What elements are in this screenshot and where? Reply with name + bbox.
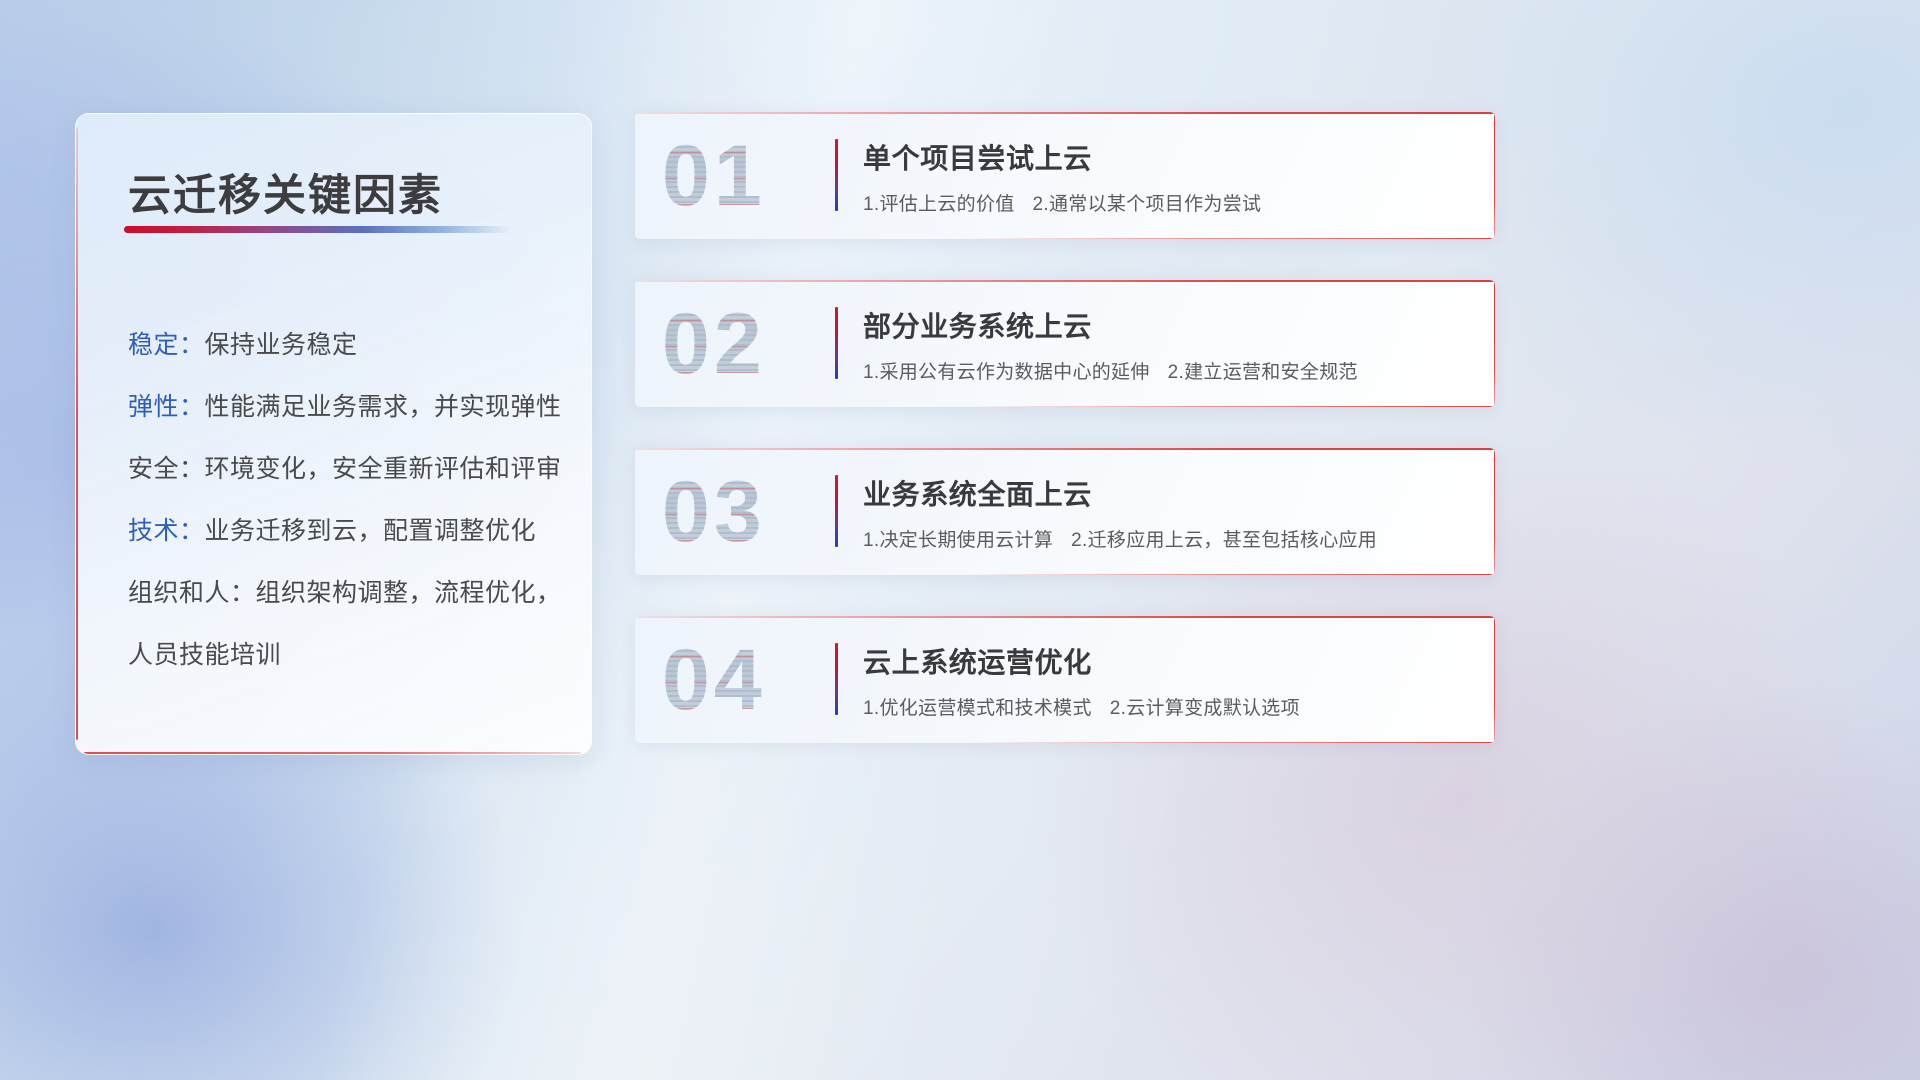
stage-title: 部分业务系统上云	[863, 305, 1092, 345]
key-factor-label: 安全：	[128, 455, 205, 483]
key-factor-text: 人员技能培训	[128, 641, 281, 669]
page-title: 云迁移关键因素	[128, 161, 443, 223]
stage-number: 01	[662, 126, 822, 226]
stage-number: 02	[662, 294, 822, 394]
stage-title: 单个项目尝试上云	[863, 137, 1092, 177]
key-factor-label: 技术：	[128, 517, 205, 545]
card-top-accent-line	[635, 280, 1495, 282]
key-factor-text: 环境变化，安全重新评估和评审	[205, 455, 562, 483]
key-factor-text: 性能满足业务需求，并实现弹性	[205, 393, 562, 421]
key-factor-row: 人员技能培训	[128, 624, 567, 686]
key-factor-row: 技术：业务迁移到云，配置调整优化	[128, 500, 567, 562]
key-factors-list: 稳定：保持业务稳定弹性：性能满足业务需求，并实现弹性安全：环境变化，安全重新评估…	[128, 314, 567, 686]
card-right-accent-line	[1494, 112, 1496, 239]
stage-card[interactable]: 0404云上系统运营优化1.优化运营模式和技术模式2.云计算变成默认选项	[635, 616, 1495, 743]
card-top-accent-line	[635, 448, 1495, 450]
stage-description-item-1: 1.决定长期使用云计算	[863, 530, 1053, 551]
key-factor-text: 业务迁移到云，配置调整优化	[205, 517, 537, 545]
key-factors-panel: 云迁移关键因素 稳定：保持业务稳定弹性：性能满足业务需求，并实现弹性安全：环境变…	[75, 113, 592, 755]
card-bottom-accent-line	[962, 406, 1495, 408]
stage-description-item-1: 1.评估上云的价值	[863, 194, 1015, 215]
stage-description-item-1: 1.优化运营模式和技术模式	[863, 698, 1092, 719]
stage-description: 1.优化运营模式和技术模式2.云计算变成默认选项	[863, 693, 1300, 720]
panel-bottom-accent-line	[84, 752, 581, 754]
card-divider-gradient-bar	[835, 475, 838, 547]
card-bottom-accent-line	[962, 574, 1495, 576]
key-factor-text: 保持业务稳定	[205, 331, 358, 359]
title-underline-gradient	[124, 226, 512, 233]
key-factor-row: 安全：环境变化，安全重新评估和评审	[128, 438, 567, 500]
card-bottom-accent-line	[962, 238, 1495, 240]
card-bottom-accent-line	[962, 742, 1495, 744]
stages-card-list: 0101单个项目尝试上云1.评估上云的价值2.通常以某个项目作为尝试0202部分…	[635, 112, 1495, 784]
stage-number: 03	[662, 462, 822, 562]
stage-number: 04	[662, 630, 822, 730]
stage-title: 业务系统全面上云	[863, 473, 1092, 513]
stage-description-item-2: 2.迁移应用上云，甚至包括核心应用	[1071, 530, 1377, 551]
stage-description-item-2: 2.云计算变成默认选项	[1110, 698, 1300, 719]
card-right-accent-line	[1494, 280, 1496, 407]
key-factor-row: 弹性：性能满足业务需求，并实现弹性	[128, 376, 567, 438]
stage-card[interactable]: 0202部分业务系统上云1.采用公有云作为数据中心的延伸2.建立运营和安全规范	[635, 280, 1495, 407]
key-factor-label: 弹性：	[128, 393, 205, 421]
card-divider-gradient-bar	[835, 307, 838, 379]
key-factor-text: 组织架构调整，流程优化，	[256, 579, 562, 607]
stage-description: 1.采用公有云作为数据中心的延伸2.建立运营和安全规范	[863, 357, 1358, 384]
stage-card[interactable]: 0303业务系统全面上云1.决定长期使用云计算2.迁移应用上云，甚至包括核心应用	[635, 448, 1495, 575]
stage-description-item-2: 2.通常以某个项目作为尝试	[1033, 194, 1262, 215]
card-top-accent-line	[635, 616, 1495, 618]
card-right-accent-line	[1494, 616, 1496, 743]
stage-description-item-2: 2.建立运营和安全规范	[1168, 362, 1358, 383]
card-right-accent-line	[1494, 448, 1496, 575]
card-top-accent-line	[635, 112, 1495, 114]
key-factor-label: 稳定：	[128, 331, 205, 359]
stage-card[interactable]: 0101单个项目尝试上云1.评估上云的价值2.通常以某个项目作为尝试	[635, 112, 1495, 239]
key-factor-label: 组织和人：	[128, 579, 256, 607]
panel-left-accent-line	[76, 128, 78, 740]
card-divider-gradient-bar	[835, 643, 838, 715]
stage-description-item-1: 1.采用公有云作为数据中心的延伸	[863, 362, 1150, 383]
stage-title: 云上系统运营优化	[863, 641, 1092, 681]
key-factor-row: 稳定：保持业务稳定	[128, 314, 567, 376]
card-divider-gradient-bar	[835, 139, 838, 211]
stage-description: 1.评估上云的价值2.通常以某个项目作为尝试	[863, 189, 1261, 216]
stage-description: 1.决定长期使用云计算2.迁移应用上云，甚至包括核心应用	[863, 525, 1377, 552]
key-factor-row: 组织和人：组织架构调整，流程优化，	[128, 562, 567, 624]
